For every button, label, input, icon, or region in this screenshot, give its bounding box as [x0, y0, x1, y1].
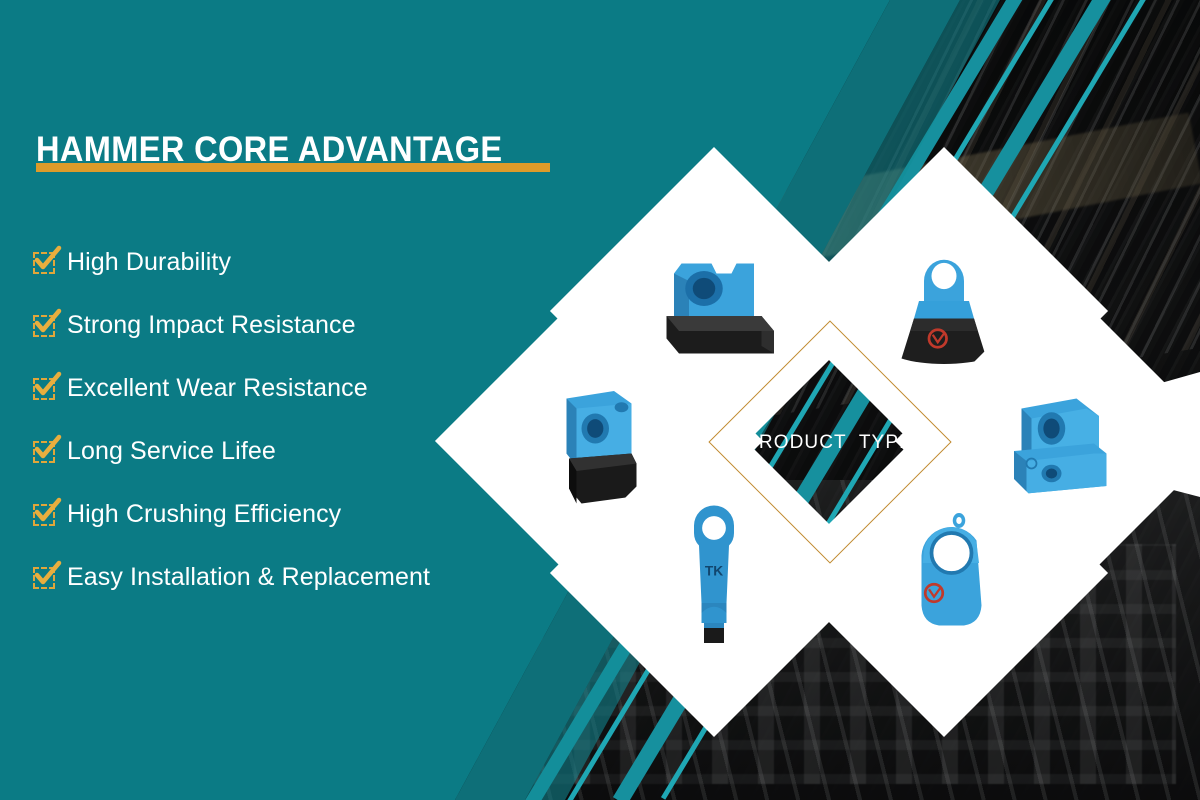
page-title-block: HAMMER CORE ADVANTAGE: [36, 131, 550, 172]
checkbox-checked-icon: [33, 252, 55, 274]
list-item-label: Excellent Wear Resistance: [67, 374, 368, 403]
checkbox-checked-icon: [33, 378, 55, 400]
center-diamond-label: PRODUCT TYPE: [679, 432, 979, 454]
list-item-label: Strong Impact Resistance: [67, 311, 356, 340]
checkbox-checked-icon: [33, 567, 55, 589]
poster-canvas: HAMMER CORE ADVANTAGE High Durability St…: [0, 0, 1200, 800]
list-item-label: Long Service Lifee: [67, 437, 276, 466]
list-item-label: Easy Installation & Replacement: [67, 563, 430, 592]
checkbox-checked-icon: [33, 441, 55, 463]
checkbox-checked-icon: [33, 504, 55, 526]
list-item-label: High Crushing Efficiency: [67, 500, 341, 529]
ring-plate-hammer-icon: [869, 498, 1019, 648]
svg-text:TK: TK: [705, 564, 723, 579]
flat-blade-hammer-icon: TK: [639, 498, 789, 648]
page-title: HAMMER CORE ADVANTAGE: [36, 131, 514, 170]
product-type-diamond-grid: TK PRODUCT TYPE: [455, 185, 1200, 700]
checkbox-checked-icon: [33, 315, 55, 337]
list-item-label: High Durability: [67, 248, 231, 277]
